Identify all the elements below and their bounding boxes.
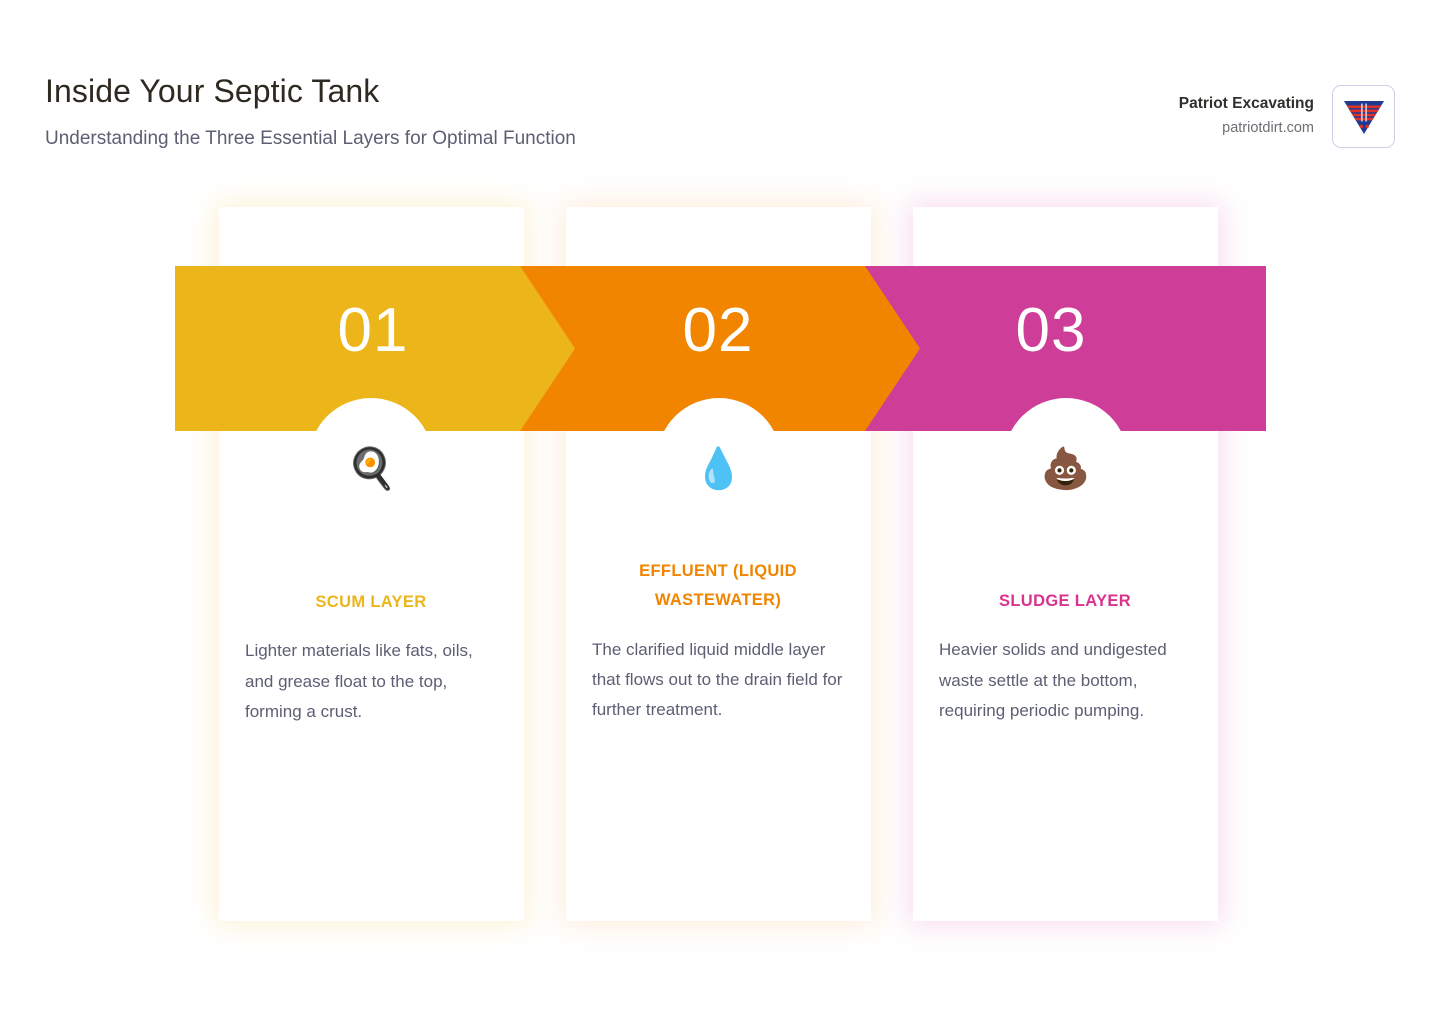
layer-title-effluent: EFFLUENT (LIQUID WASTEWATER) bbox=[592, 557, 844, 616]
layer-title-scum: SCUM LAYER bbox=[245, 588, 497, 617]
layer-card-deck: 01 02 03 🍳 💧 💩 SCUM LAYER Lighter materi… bbox=[0, 0, 1440, 1024]
step-number-1: 01 bbox=[175, 300, 571, 362]
water-droplet-icon: 💧 bbox=[566, 449, 871, 489]
layer-description-scum: Lighter materials like fats, oils, and g… bbox=[245, 636, 497, 727]
layer-description-effluent: The clarified liquid middle layer that f… bbox=[592, 635, 844, 726]
layer-content-effluent: EFFLUENT (LIQUID WASTEWATER) The clarifi… bbox=[592, 557, 844, 725]
step-number-2: 02 bbox=[520, 300, 916, 362]
frying-pan-egg-icon: 🍳 bbox=[219, 449, 524, 489]
layer-content-sludge: SLUDGE LAYER Heavier solids and undigest… bbox=[939, 587, 1191, 726]
pile-of-poo-icon: 💩 bbox=[913, 449, 1218, 489]
step-number-3: 03 bbox=[865, 300, 1237, 362]
layer-title-sludge: SLUDGE LAYER bbox=[939, 587, 1191, 616]
layer-description-sludge: Heavier solids and undigested waste sett… bbox=[939, 635, 1191, 726]
layer-content-scum: SCUM LAYER Lighter materials like fats, … bbox=[245, 588, 497, 727]
